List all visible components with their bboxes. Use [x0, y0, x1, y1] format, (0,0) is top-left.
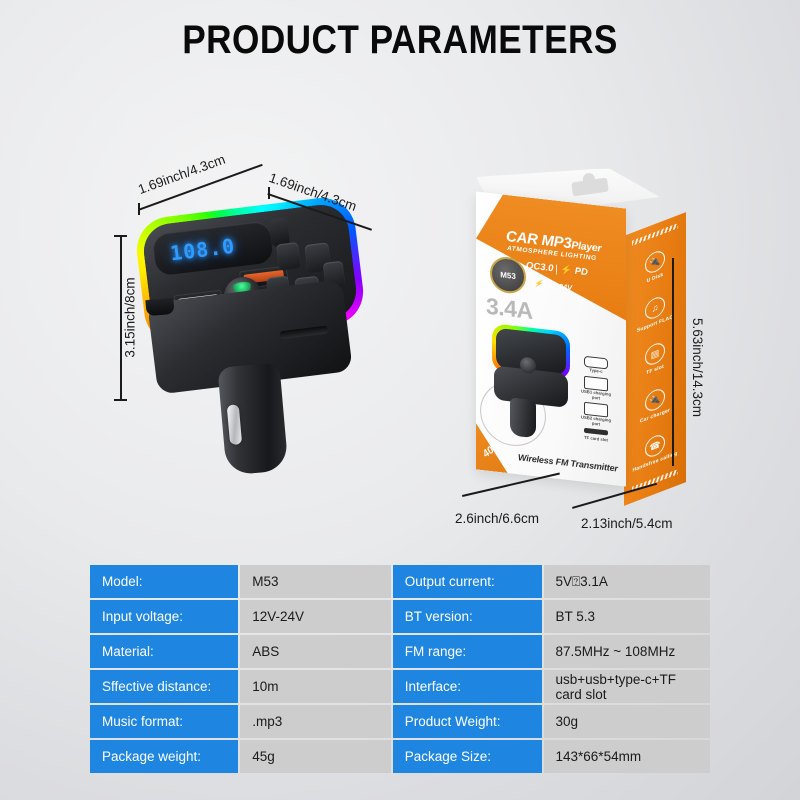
button-eq [276, 242, 301, 270]
callout-label-tf: TF card slot [580, 434, 612, 443]
spec-table-body: Model: M53 Output current: 5V⍰3.1A Input… [90, 565, 710, 773]
spec-label: FM range: [393, 635, 542, 668]
feature-tf-slot: ▤ TF slot [624, 332, 686, 384]
page-root: PRODUCT PARAMETERS 108.0 [0, 0, 800, 800]
badge-divider [556, 264, 557, 274]
table-row: Input voltage: 12V-24V BT version: BT 5.… [90, 600, 710, 633]
illustration-barrel [510, 397, 536, 438]
spec-value: 5V⍰3.1A [544, 565, 710, 598]
tf-card-slot [280, 326, 329, 340]
spec-value: 10m [240, 670, 391, 703]
table-row: Sffective distance: 10m Interface: usb+u… [90, 670, 710, 703]
feature-support-flac: ♫ Support FLAC [624, 286, 686, 338]
package-photo: 🔌 U Disk ♫ Support FLAC ▤ TF slot 🔌 Car … [448, 168, 688, 498]
spec-label: BT version: [393, 600, 542, 633]
side-hatch-top [632, 223, 678, 246]
lcd-frequency-display: 108.0 [169, 234, 237, 266]
dim-line-height-left [120, 235, 122, 400]
feature-u-disk: 🔌 U Disk [624, 240, 686, 292]
illustration-usb [538, 345, 558, 355]
voltage-bolt-icon: ⚡ [532, 277, 545, 291]
dim-label-box-width: 2.6inch/6.6cm [455, 511, 539, 526]
amperage-label: 3.4A [486, 293, 533, 325]
dim-label-height-left: 3.15inch/8cm [123, 277, 138, 357]
spec-label: Input voltage: [90, 600, 238, 633]
dim-tick-height-bottom [114, 399, 127, 401]
dim-tick-right-a [268, 187, 270, 199]
table-row: Music format: .mp3 Product Weight: 30g [90, 705, 710, 738]
pd-badge: PD [575, 266, 588, 279]
bolt-icon: ⚡ [560, 264, 571, 276]
spec-value: 12V-24V [240, 600, 391, 633]
spec-value: ABS [240, 635, 391, 668]
illustration-lcd: 108.0 [502, 334, 536, 351]
spec-value: usb+usb+type-c+TF card slot [544, 670, 710, 703]
lcd-panel: 108.0 [152, 220, 274, 276]
box-product-illustration: 108.0 [492, 323, 574, 442]
dim-label-box-depth: 2.13inch/5.4cm [581, 516, 673, 531]
spring-contact [227, 404, 242, 445]
spec-label: Material: [90, 635, 238, 668]
spec-value: M53 [240, 565, 391, 598]
spec-label: Model: [90, 565, 238, 598]
product-photo: 108.0 [130, 195, 380, 485]
dim-tick-left-a [138, 203, 140, 215]
spec-value: 45g [240, 740, 391, 773]
feature-car-charger: 🔌 Car charger [624, 378, 686, 430]
spec-value: 30g [544, 705, 710, 738]
specification-table: Model: M53 Output current: 5V⍰3.1A Input… [88, 563, 712, 775]
spec-label: Sffective distance: [90, 670, 238, 703]
dim-label-box-height: 5.63inch/14.3cm [690, 318, 705, 417]
qc-badge: QC3.0 [526, 260, 553, 274]
spec-value: 143*66*54mm [544, 740, 710, 773]
spec-label: Interface: [393, 670, 542, 703]
box-front-panel: CAR MP3Player ATMOSPHERE LIGHTING QC3.0 … [476, 191, 626, 486]
table-row: Material: ABS FM range: 87.5MHz ~ 108MHz [90, 635, 710, 668]
table-row: Model: M53 Output current: 5V⍰3.1A [90, 565, 710, 598]
dim-tick-height-top [114, 235, 127, 237]
spec-label: Package Size: [393, 740, 542, 773]
spec-value: .mp3 [240, 705, 391, 738]
page-title: PRODUCT PARAMETERS [48, 18, 752, 63]
box-footer-text: Wireless FM Transmitter [518, 452, 618, 473]
spec-value: BT 5.3 [544, 600, 710, 633]
spec-label: Product Weight: [393, 705, 542, 738]
euro-hang-hole [571, 178, 609, 197]
dim-line-box-height [672, 258, 674, 466]
box-side-panel: 🔌 U Disk ♫ Support FLAC ▤ TF slot 🔌 Car … [624, 212, 686, 506]
spec-label: Music format: [90, 705, 238, 738]
car-plug-barrel [217, 363, 288, 476]
voltage-label: 12-24V [548, 281, 572, 293]
table-row: Package weight: 45g Package Size: 143*66… [90, 740, 710, 773]
dim-label-width-left: 1.69inch/4.3cm [136, 152, 227, 197]
spec-label: Output current: [393, 565, 542, 598]
spec-value: 87.5MHz ~ 108MHz [544, 635, 710, 668]
spec-label: Package weight: [90, 740, 238, 773]
